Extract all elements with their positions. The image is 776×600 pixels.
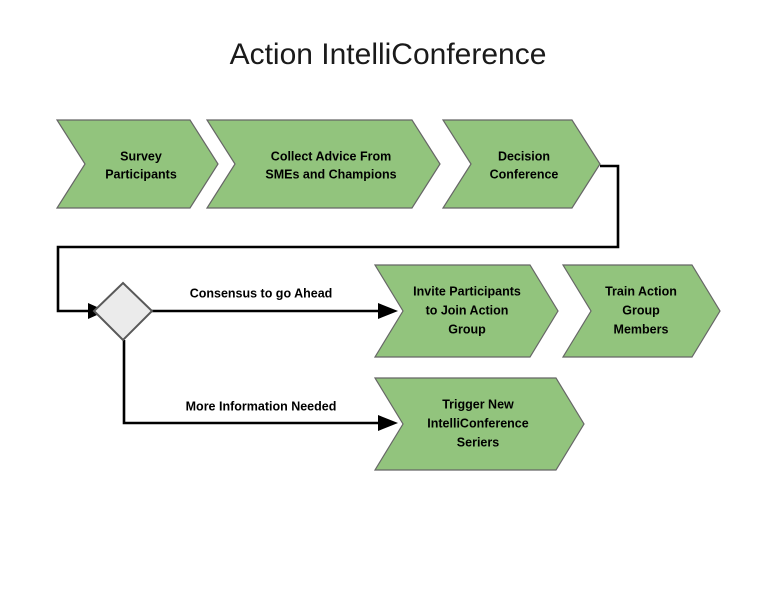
node-label-line-1: Survey (120, 149, 162, 163)
node-label-line-1: Decision (498, 149, 550, 163)
node-decision-gate[interactable] (94, 283, 152, 340)
node-label-line-2: IntelliConference (427, 416, 528, 430)
node-label-line-1: Train Action (605, 284, 677, 298)
node-decision-conference[interactable]: Decision Conference (443, 120, 600, 208)
flowchart-diagram: Action IntelliConference Survey Particip… (0, 0, 776, 600)
edge-label-more-info: More Information Needed (186, 399, 337, 413)
arrow-head-icon (378, 415, 398, 431)
arrow-head-icon (378, 303, 398, 319)
node-label-line-2: SMEs and Champions (265, 167, 396, 181)
connector-gate-to-invite (152, 303, 398, 319)
node-label-line-2: Participants (105, 167, 177, 181)
edge-label-consensus: Consensus to go Ahead (190, 286, 333, 300)
node-invite-participants[interactable]: Invite Participants to Join Action Group (375, 265, 558, 357)
page-title: Action IntelliConference (230, 38, 547, 71)
connector-gate-to-trigger (124, 340, 398, 431)
node-label-line-2: to Join Action (426, 303, 509, 317)
node-label-line-2: Group (622, 303, 660, 317)
node-label-line-3: Group (448, 322, 486, 336)
node-label-line-1: Invite Participants (413, 284, 521, 298)
node-label-line-2: Conference (490, 167, 559, 181)
diamond-shape (94, 283, 152, 340)
node-label-line-3: Members (614, 322, 669, 336)
node-label-line-1: Collect Advice From (271, 149, 391, 163)
chevron-shape (57, 120, 218, 208)
flowchart-canvas: Action IntelliConference Survey Particip… (0, 0, 776, 600)
node-collect-advice[interactable]: Collect Advice From SMEs and Champions (207, 120, 440, 208)
chevron-shape (207, 120, 440, 208)
chevron-shape (443, 120, 600, 208)
node-train-action-group[interactable]: Train Action Group Members (563, 265, 720, 357)
node-trigger-new-series[interactable]: Trigger New IntelliConference Seriers (375, 378, 584, 470)
node-label-line-1: Trigger New (442, 397, 514, 411)
node-survey-participants[interactable]: Survey Participants (57, 120, 218, 208)
node-label-line-3: Seriers (457, 435, 499, 449)
